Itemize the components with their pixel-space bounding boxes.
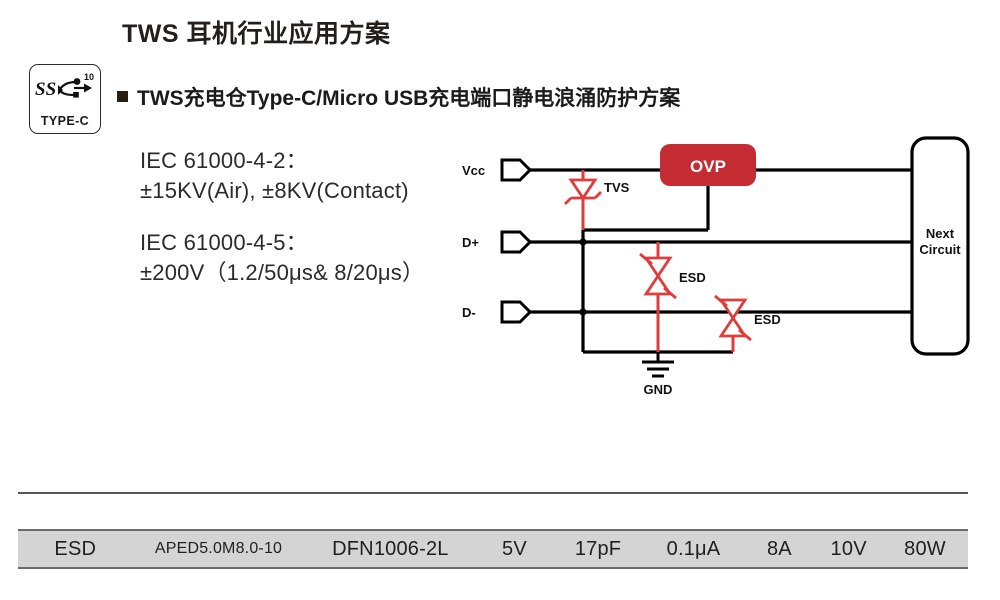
port-connector-dminus (502, 302, 530, 322)
page-title: TWS 耳机行业应用方案 (122, 14, 391, 50)
spec-iec-61000-4-5: IEC 61000-4-5： ±200V（1.2/50μs& 8/20μs） (140, 228, 424, 288)
section-divider (18, 492, 968, 494)
param-cell-vrwm: 5V (476, 538, 552, 561)
spec-iec-61000-4-2: IEC 61000-4-2： ±15KV(Air), ±8KV(Contact) (140, 146, 409, 206)
param-cell-package: DFN1006-2L (304, 538, 476, 561)
port-connector-dplus (502, 232, 530, 252)
section-subtitle: TWS充电仓Type-C/Micro USB充电端口静电浪涌防护方案 (137, 82, 680, 112)
port-label-dminus: D- (462, 305, 476, 320)
tvs-diode-symbol (565, 180, 601, 204)
esd-diode-symbol-2 (715, 296, 751, 340)
esd-label-2: ESD (754, 312, 781, 327)
next-circuit-label-line1: Next (926, 226, 955, 241)
next-circuit-label-line2: Circuit (919, 242, 961, 257)
param-cell-capacitance: 17pF (553, 538, 644, 561)
spec-value-label: ±15KV(Air), ±8KV(Contact) (140, 176, 409, 206)
param-cell-power: 80W (882, 538, 968, 561)
junction-dot (579, 238, 586, 245)
spec-standard-label: IEC 61000-4-5： (140, 228, 424, 258)
typec-badge: SS 10 TYPE-C (29, 64, 101, 134)
port-label-dplus: D+ (462, 235, 479, 250)
esd-label-1: ESD (679, 270, 706, 285)
spec-value-label: ±200V（1.2/50μs& 8/20μs） (140, 258, 424, 288)
parameter-table-row: ESD APED5.0M8.0-10 DFN1006-2L 5V 17pF 0.… (18, 529, 968, 569)
svg-text:10: 10 (84, 72, 94, 82)
esd-diode-symbol-1 (640, 254, 676, 298)
filled-square-bullet-icon (117, 91, 128, 102)
param-cell-part-number: APED5.0M8.0-10 (133, 540, 305, 558)
spec-standard-label: IEC 61000-4-2： (140, 146, 409, 176)
port-connector-vcc (502, 160, 530, 180)
svg-text:SS: SS (35, 79, 56, 100)
tvs-label: TVS (604, 180, 630, 195)
param-cell-leakage: 0.1μA (643, 538, 743, 561)
protection-circuit-diagram: Vcc D+ D- TVS OVP ESD ESD (450, 130, 990, 400)
param-cell-vc: 10V (815, 538, 882, 561)
usb-superspeed-icon: SS 10 (34, 71, 98, 105)
param-cell-type: ESD (18, 538, 133, 561)
param-cell-ipp: 8A (744, 538, 816, 561)
port-label-vcc: Vcc (462, 163, 485, 178)
ground-symbol (642, 352, 674, 376)
ovp-label: OVP (690, 157, 726, 176)
typec-badge-label: TYPE-C (30, 114, 100, 128)
ground-label: GND (644, 382, 673, 397)
junction-dot (579, 308, 586, 315)
